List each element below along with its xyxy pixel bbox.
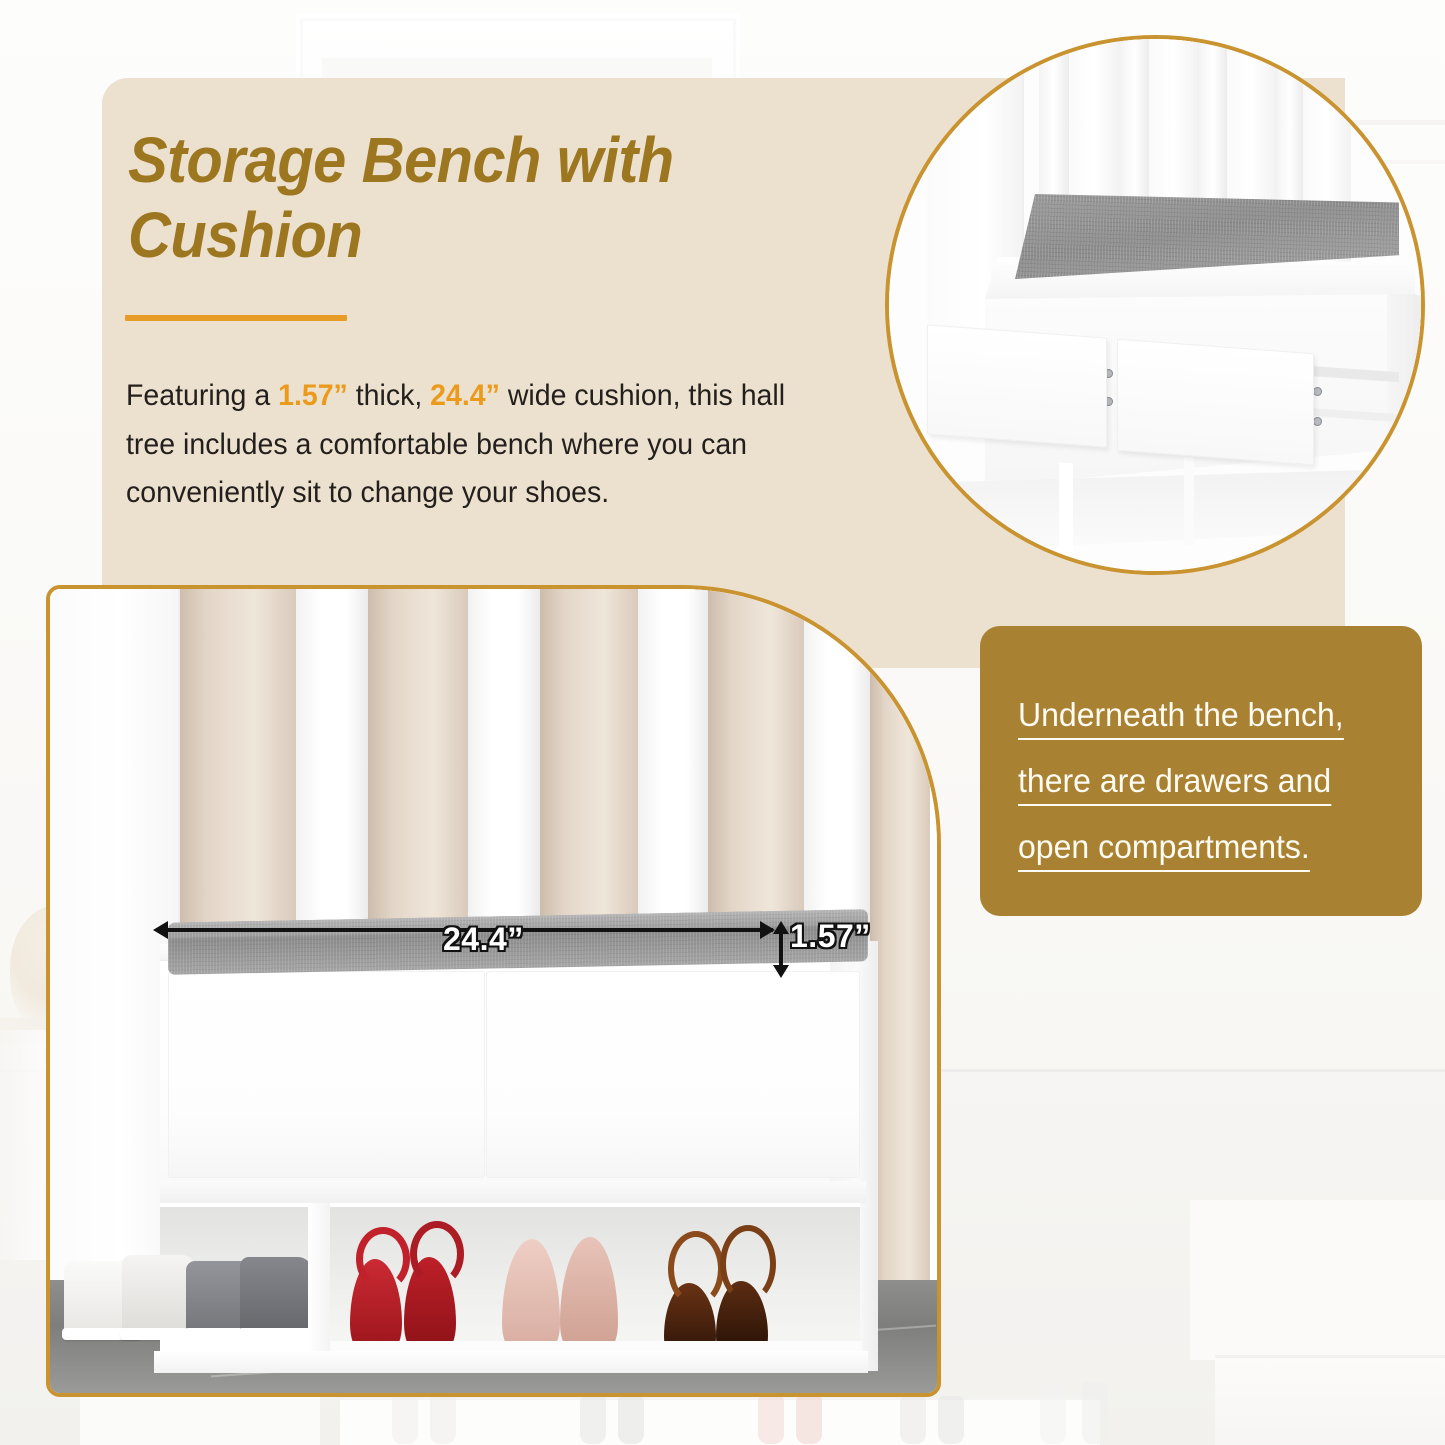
- width-highlight: 24.4”: [430, 379, 500, 412]
- compartment-divider: [308, 1203, 330, 1358]
- background-shoe-board: [340, 1398, 1100, 1445]
- body-paragraph: Featuring a 1.57” thick, 24.4” wide cush…: [126, 372, 802, 518]
- title-line-2: Cushion: [128, 198, 779, 273]
- marketing-infographic: Storage Bench with Cushion Featuring a 1…: [0, 0, 1445, 1445]
- arrow-up-icon: [773, 921, 789, 934]
- width-dimension-label: 24.4”: [443, 921, 524, 958]
- inset-compartment-divider-2: [1184, 457, 1194, 546]
- title-divider: [125, 315, 347, 321]
- shoe-white-sneaker-right: [122, 1255, 196, 1333]
- shoe-nude-pump-right: [560, 1227, 622, 1359]
- inset-compartment-divider: [1059, 463, 1073, 556]
- main-product-photo: [46, 585, 941, 1397]
- callout-line-1: Underneath the bench,: [1018, 696, 1344, 740]
- inset-drawer-open-left: [927, 324, 1107, 447]
- compartment-front-lip: [154, 1351, 868, 1373]
- shoe-red-heel-left: [348, 1229, 406, 1357]
- inset-drawer-open-right: [1117, 339, 1314, 465]
- shoe-red-heel-right: [402, 1225, 460, 1357]
- body-seg-1: Featuring a: [126, 379, 278, 412]
- thickness-highlight: 1.57”: [278, 379, 348, 412]
- bench-mid-rail: [160, 1181, 866, 1203]
- thickness-dimension-label: 1.57”: [790, 918, 871, 955]
- callout-box: Underneath the bench, there are drawers …: [980, 626, 1422, 916]
- arrow-down-icon: [773, 965, 789, 978]
- shoe-gray-sneaker-right: [240, 1257, 312, 1333]
- callout-text: Underneath the bench, there are drawers …: [1018, 682, 1379, 880]
- title-line-1: Storage Bench with: [128, 123, 779, 198]
- drawer-front-left: [168, 971, 485, 1178]
- page-title: Storage Bench with Cushion: [128, 123, 779, 273]
- callout-line-2: there are drawers and: [1018, 762, 1331, 806]
- circle-inset-photo: [885, 35, 1425, 575]
- drawer-front-right: [486, 971, 860, 1178]
- background-bench-base: [80, 1390, 320, 1445]
- callout-line-3: open compartments.: [1018, 828, 1310, 872]
- inset-bench-right-side: [1387, 284, 1421, 489]
- shoe-nude-pump-left: [502, 1231, 564, 1359]
- background-right-panel: [1190, 1200, 1445, 1360]
- background-skirting: [1215, 1355, 1445, 1445]
- arrow-left-icon: [153, 921, 168, 939]
- body-seg-2: thick,: [348, 379, 430, 412]
